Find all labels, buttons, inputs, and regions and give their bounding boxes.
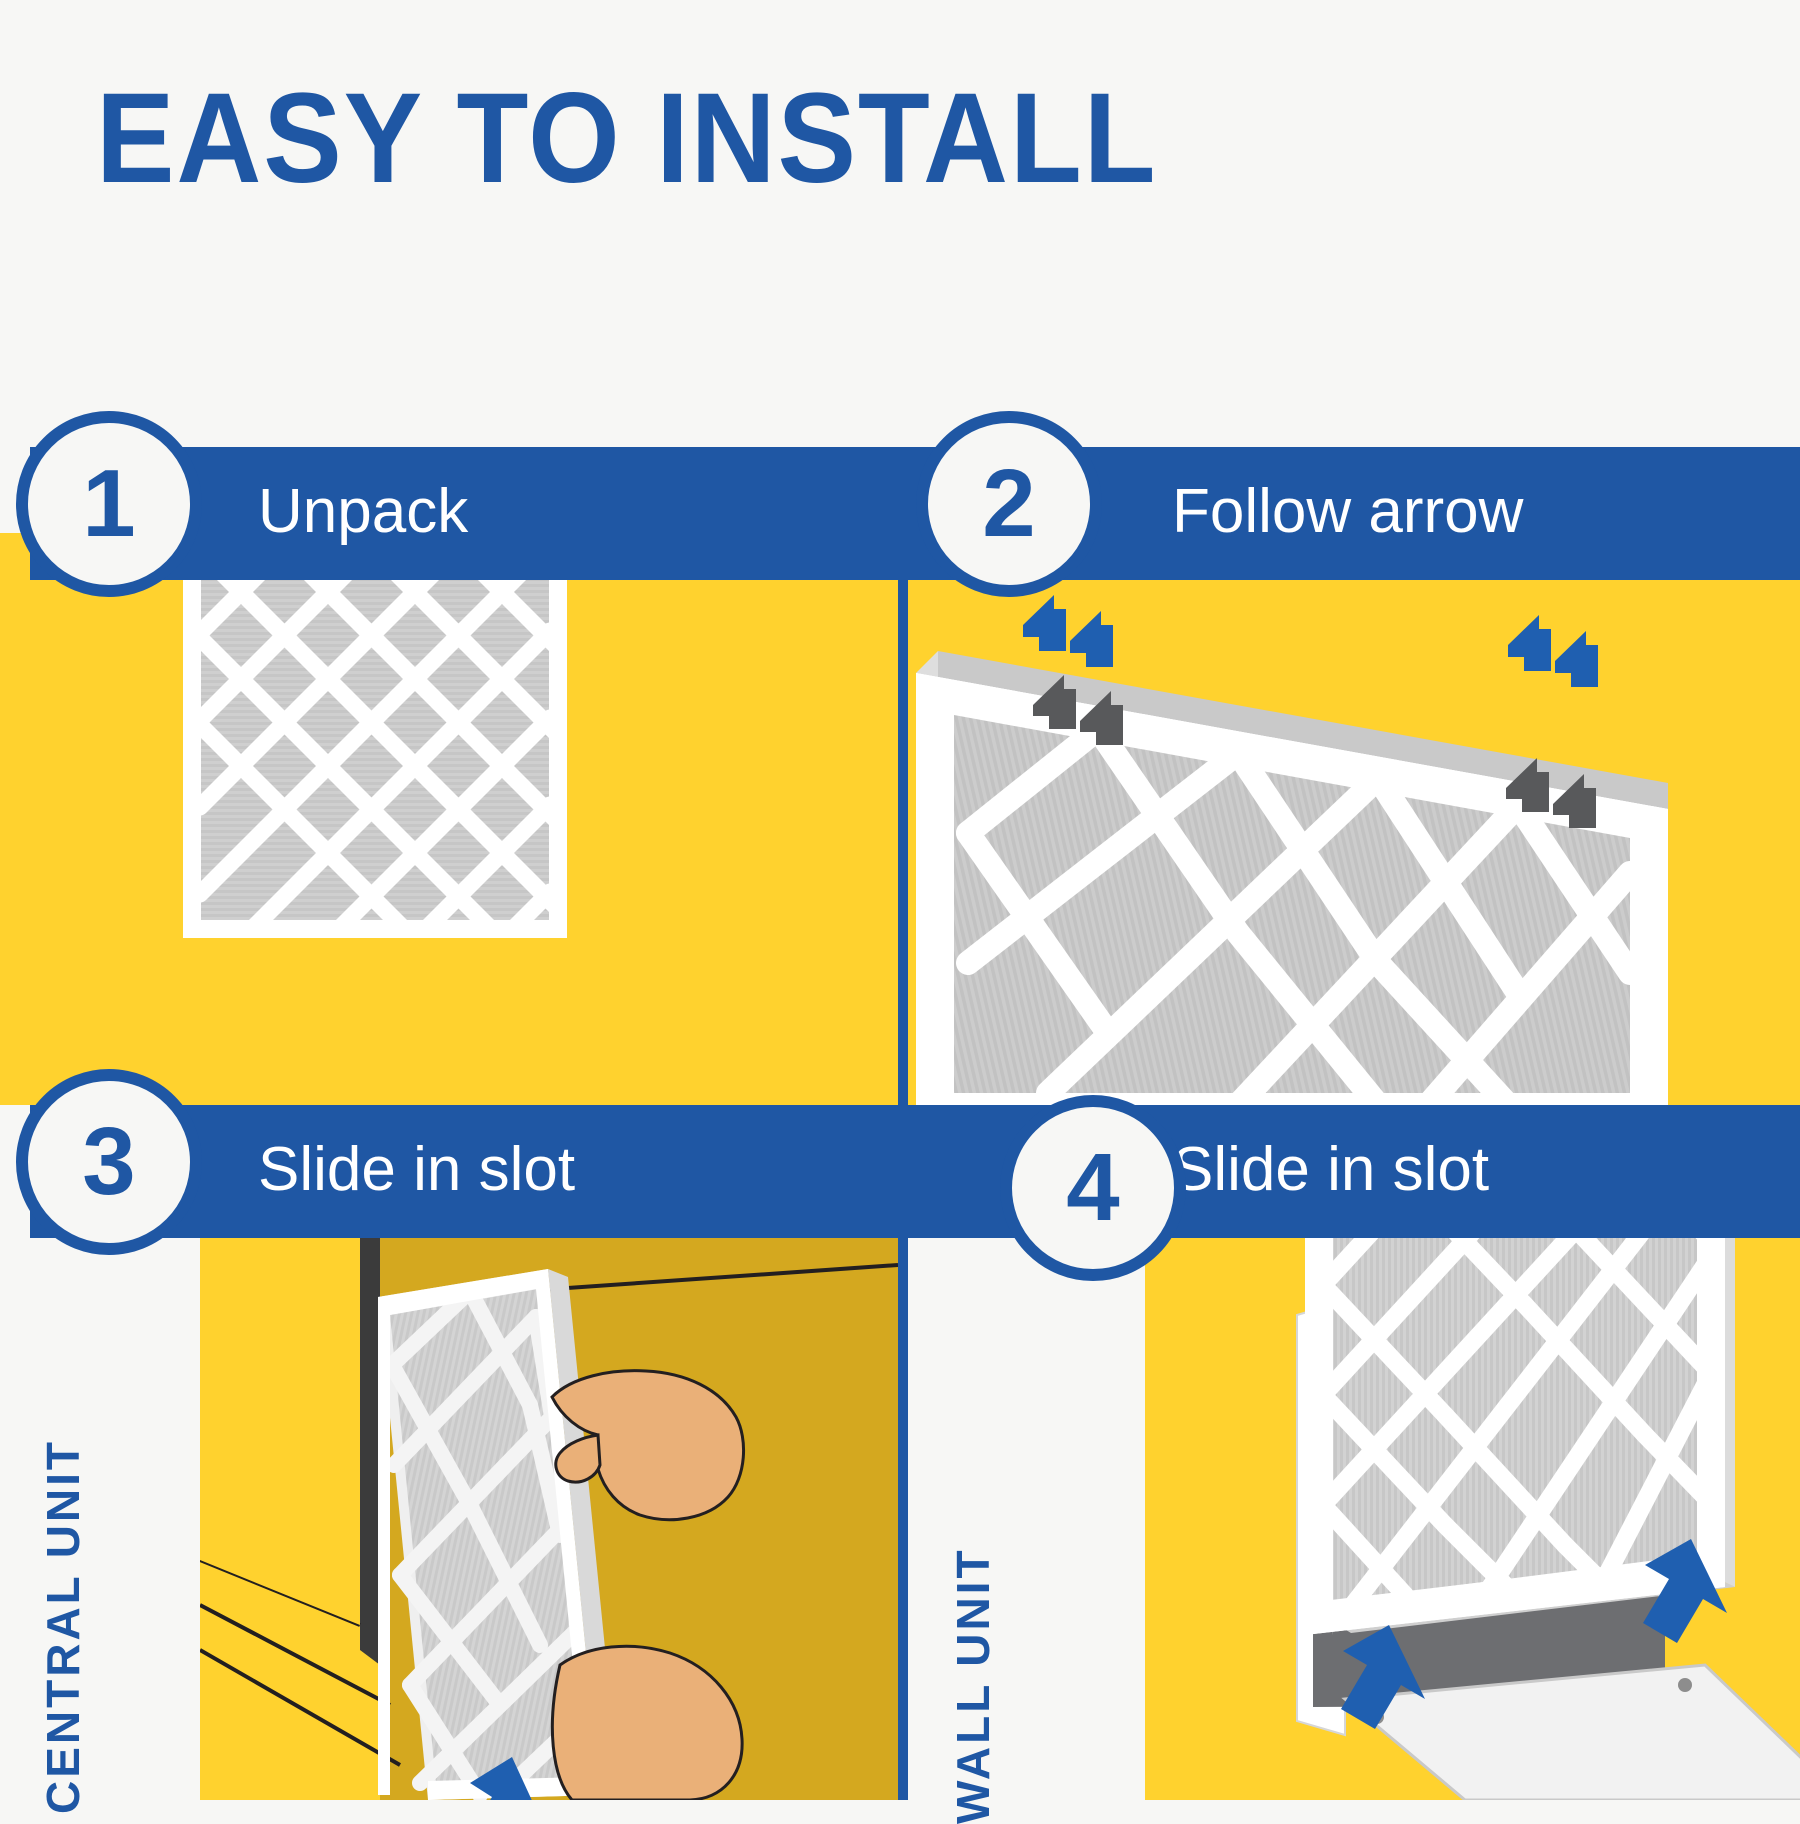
- step-1-number: 1: [82, 449, 135, 559]
- step-2-illustration: [908, 533, 1800, 1105]
- step-4-badge: 4: [1000, 1095, 1186, 1281]
- step-4-label: Slide in slot: [1172, 1139, 1489, 1201]
- step-3-side-label: CENTRAL UNIT: [36, 1439, 90, 1814]
- step-1-label: Unpack: [258, 481, 468, 543]
- step-2-badge: 2: [916, 411, 1102, 597]
- step-1-panel: [0, 533, 898, 1105]
- step-4-side-label: WALL UNIT: [946, 1547, 1000, 1824]
- step-2-label: Follow arrow: [1172, 481, 1523, 543]
- step-3-label: Slide in slot: [258, 1139, 575, 1201]
- infographic-stage: EASY TO INSTALL: [0, 0, 1800, 1800]
- step-1-illustration: [0, 533, 898, 1105]
- step-1-badge: 1: [16, 411, 202, 597]
- page-title: EASY TO INSTALL: [96, 72, 1157, 206]
- step-2-number: 2: [982, 449, 1035, 559]
- step-2-panel: [908, 533, 1800, 1105]
- step-4-number: 4: [1066, 1133, 1119, 1243]
- step-3-badge: 3: [16, 1069, 202, 1255]
- column-divider: [898, 447, 908, 1800]
- step-3-number: 3: [82, 1107, 135, 1217]
- arrow-up-blue-icon: [1023, 595, 1113, 667]
- arrow-up-blue-icon: [1508, 615, 1598, 687]
